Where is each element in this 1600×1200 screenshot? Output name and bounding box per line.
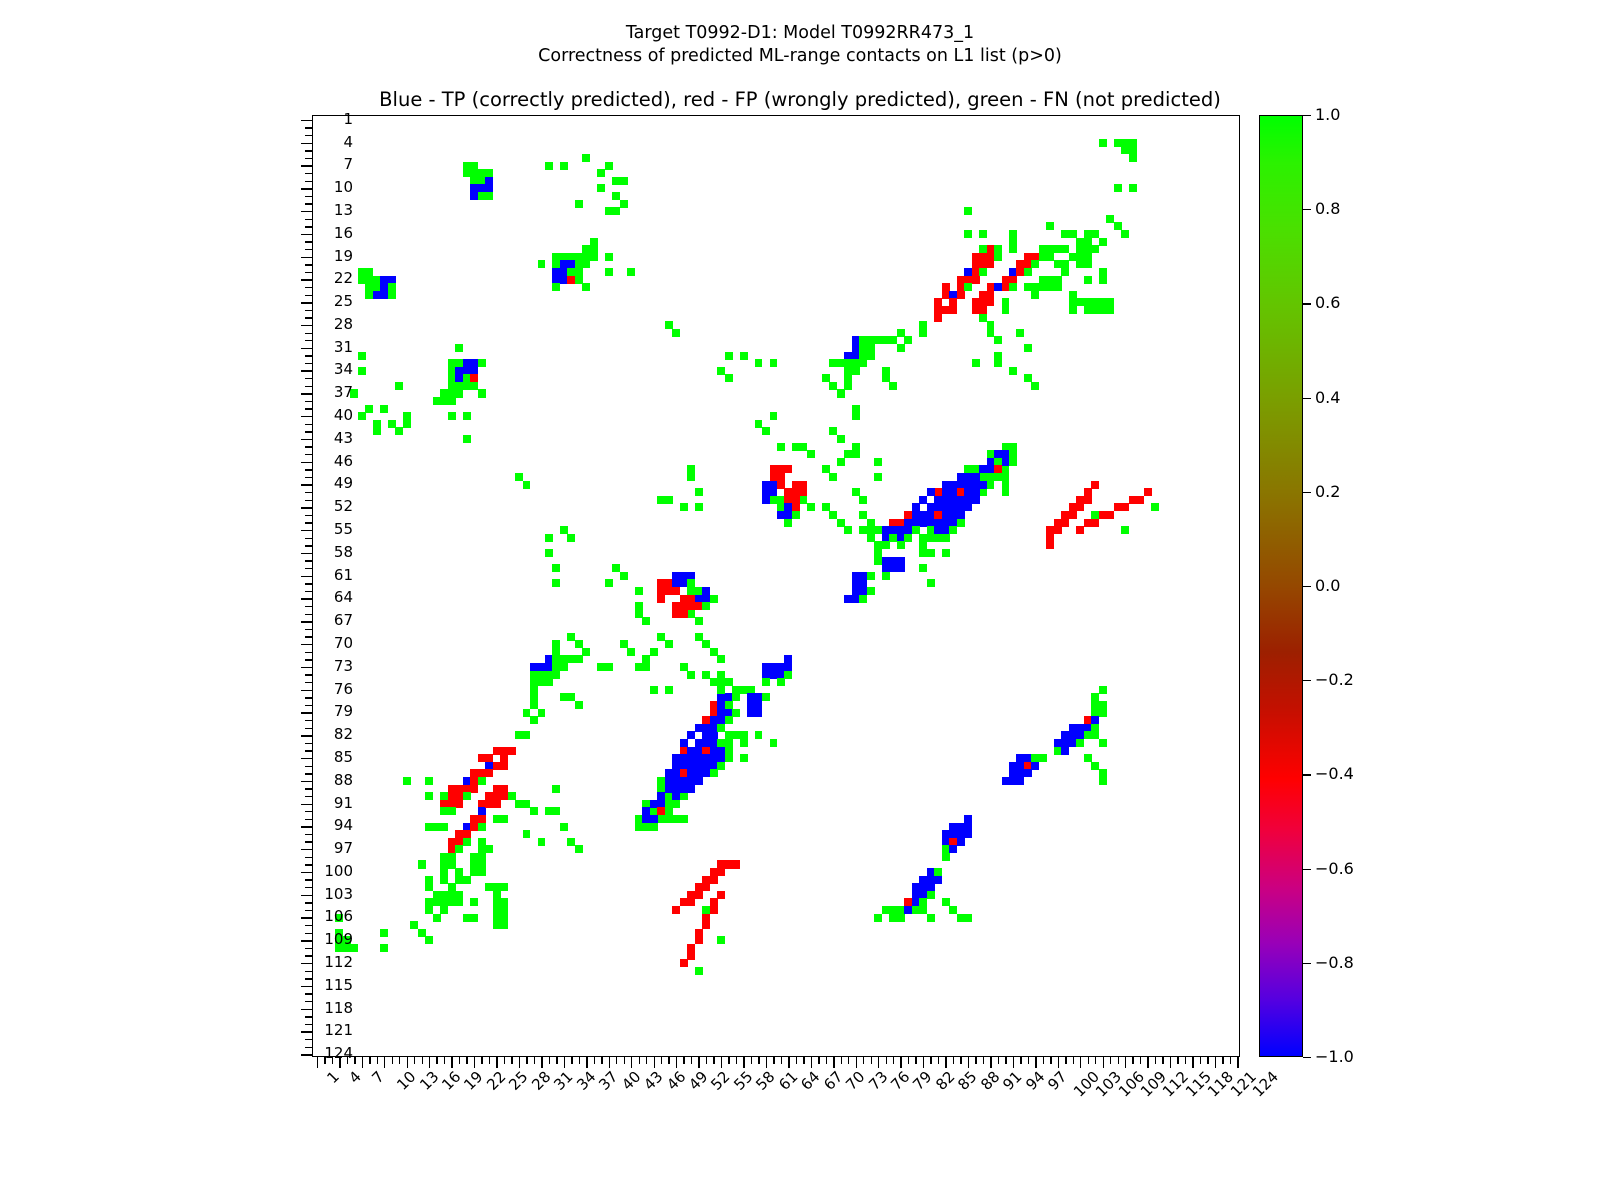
chart-legend-subtitle: Blue - TP (correctly predicted), red - F… <box>0 88 1600 111</box>
x-tick <box>661 1056 662 1064</box>
x-tick-major <box>1125 1056 1126 1068</box>
contact-cell <box>478 389 486 397</box>
y-tick <box>305 652 313 653</box>
contact-cell <box>380 929 388 937</box>
contact-cell <box>987 298 995 306</box>
contact-cell <box>927 914 935 922</box>
contact-cell <box>755 359 763 367</box>
contact-cell <box>1002 458 1010 466</box>
x-tick <box>534 1056 535 1064</box>
contact-cell <box>582 260 590 268</box>
contact-cell <box>493 906 501 914</box>
contact-cell <box>1061 519 1069 527</box>
x-tick <box>908 1056 909 1064</box>
y-tick-label: 109 <box>233 932 353 947</box>
y-tick-label: 1 <box>233 112 353 127</box>
contact-cell <box>620 200 628 208</box>
y-tick-label: 40 <box>233 408 353 423</box>
y-tick-label: 118 <box>233 1001 353 1016</box>
x-tick-major <box>451 1056 452 1068</box>
contact-cell <box>1016 329 1024 337</box>
contact-cell <box>867 352 875 360</box>
contact-cell <box>1091 481 1099 489</box>
x-tick-major <box>833 1056 834 1068</box>
contact-cell <box>710 876 718 884</box>
x-tick-major <box>743 1056 744 1068</box>
contact-cell <box>717 891 725 899</box>
contact-cell <box>949 526 957 534</box>
y-tick <box>305 446 313 447</box>
x-tick <box>1140 1056 1141 1064</box>
contact-cell <box>725 754 733 762</box>
contact-cell <box>1091 511 1099 519</box>
contact-cell <box>695 777 703 785</box>
contact-cell <box>1099 777 1107 785</box>
x-tick <box>436 1056 437 1064</box>
contact-cell <box>1076 526 1084 534</box>
contact-cell <box>605 268 613 276</box>
contact-cell <box>627 648 635 656</box>
colorbar-tick <box>1303 115 1311 116</box>
y-tick <box>305 355 313 356</box>
contact-cell <box>448 397 456 405</box>
contact-cell <box>1009 245 1017 253</box>
contact-cell <box>463 435 471 443</box>
contact-cell <box>964 207 972 215</box>
x-tick <box>639 1056 640 1064</box>
contact-cell <box>852 450 860 458</box>
x-tick <box>1200 1056 1201 1064</box>
contact-cell <box>642 823 650 831</box>
contact-cell <box>403 777 411 785</box>
contact-cell <box>582 154 590 162</box>
x-tick-major <box>631 1056 632 1068</box>
contact-cell <box>552 283 560 291</box>
contact-cell <box>620 572 628 580</box>
y-tick-label: 76 <box>233 682 353 697</box>
y-tick-label: 115 <box>233 978 353 993</box>
y-tick-label: 61 <box>233 568 353 583</box>
contact-cell <box>964 230 972 238</box>
contact-cell <box>1039 754 1047 762</box>
x-tick <box>399 1056 400 1064</box>
contact-cell <box>1046 222 1054 230</box>
x-tick-label: 97 <box>1046 1069 1070 1093</box>
contact-cell <box>403 412 411 420</box>
x-tick-major <box>1058 1056 1059 1068</box>
contact-cell <box>897 541 905 549</box>
x-tick <box>1020 1056 1021 1064</box>
contact-cell <box>1091 298 1099 306</box>
contact-cell <box>859 595 867 603</box>
contact-cell <box>1002 488 1010 496</box>
y-tick <box>305 674 313 675</box>
contact-cell <box>942 853 950 861</box>
contact-cell <box>717 762 725 770</box>
contact-map-cells <box>313 116 1239 1056</box>
contact-cell <box>680 792 688 800</box>
colorbar <box>1259 115 1303 1057</box>
contact-cell <box>867 587 875 595</box>
contact-cell <box>994 253 1002 261</box>
colorbar-tick-label: −0.8 <box>1315 955 1354 971</box>
y-tick-label: 7 <box>233 157 353 172</box>
contact-cell <box>433 914 441 922</box>
contact-cell <box>680 503 688 511</box>
contact-cell <box>949 306 957 314</box>
x-tick <box>773 1056 774 1064</box>
contact-cell <box>837 435 845 443</box>
contact-cell <box>957 291 965 299</box>
y-tick-label: 106 <box>233 909 353 924</box>
x-tick-major <box>766 1056 767 1068</box>
x-tick-major <box>586 1056 587 1068</box>
contact-cell <box>545 162 553 170</box>
contact-cell <box>1009 283 1017 291</box>
contact-cell <box>560 162 568 170</box>
x-tick <box>504 1056 505 1064</box>
contact-cell <box>695 617 703 625</box>
x-tick <box>459 1056 460 1064</box>
contact-cell <box>740 731 748 739</box>
contact-cell <box>478 823 486 831</box>
y-tick-label: 13 <box>233 203 353 218</box>
contact-cell <box>710 906 718 914</box>
x-tick-major <box>609 1056 610 1068</box>
contact-cell <box>964 503 972 511</box>
contact-cell <box>1069 511 1077 519</box>
contact-cell <box>927 891 935 899</box>
contact-cell <box>545 534 553 542</box>
contact-cell <box>755 731 763 739</box>
x-tick-major <box>384 1056 385 1068</box>
contact-cell <box>605 162 613 170</box>
x-tick-major <box>407 1056 408 1068</box>
contact-cell <box>1136 496 1144 504</box>
contact-cell <box>1054 283 1062 291</box>
contact-cell <box>979 268 987 276</box>
contact-cell <box>784 519 792 527</box>
x-tick-major <box>856 1056 857 1068</box>
contact-cell <box>597 169 605 177</box>
x-tick-major <box>1147 1056 1148 1068</box>
y-tick-label: 19 <box>233 249 353 264</box>
contact-cell <box>904 336 912 344</box>
contact-cell <box>1106 306 1114 314</box>
contact-cell <box>665 496 673 504</box>
contact-cell <box>1031 260 1039 268</box>
x-tick <box>886 1056 887 1064</box>
y-tick-label: 124 <box>233 1046 353 1061</box>
contact-cell <box>725 352 733 360</box>
colorbar-tick <box>1303 586 1311 587</box>
x-tick <box>579 1056 580 1064</box>
x-tick <box>556 1056 557 1064</box>
y-tick-label: 43 <box>233 431 353 446</box>
contact-cell <box>463 876 471 884</box>
contact-cell <box>979 488 987 496</box>
contact-cell <box>620 177 628 185</box>
contact-cell <box>1099 139 1107 147</box>
contact-cell <box>687 944 695 952</box>
contact-cell <box>740 739 748 747</box>
contact-cell <box>927 549 935 557</box>
contact-cell <box>582 648 590 656</box>
x-tick <box>938 1056 939 1064</box>
x-tick <box>444 1056 445 1064</box>
contact-cell <box>687 473 695 481</box>
y-tick <box>305 127 313 128</box>
contact-cell <box>755 709 763 717</box>
contact-cell <box>500 762 508 770</box>
contact-cell <box>380 944 388 952</box>
x-tick <box>594 1056 595 1064</box>
contact-cell <box>612 177 620 185</box>
x-tick <box>1065 1056 1066 1064</box>
x-tick <box>1185 1056 1186 1064</box>
contact-cell <box>1024 769 1032 777</box>
contact-cell <box>897 344 905 352</box>
contact-cell <box>784 671 792 679</box>
contact-cell <box>807 503 815 511</box>
y-tick-label: 97 <box>233 841 353 856</box>
contact-cell <box>650 823 658 831</box>
contact-cell <box>874 914 882 922</box>
contact-cell <box>358 412 366 420</box>
contact-cell <box>702 914 710 922</box>
y-tick <box>305 310 313 311</box>
contact-cell <box>612 207 620 215</box>
y-tick <box>305 857 313 858</box>
contact-cell <box>1016 777 1024 785</box>
x-tick-major <box>788 1056 789 1068</box>
x-tick <box>683 1056 684 1064</box>
contact-cell <box>552 579 560 587</box>
y-tick-label: 4 <box>233 135 353 150</box>
contact-cell <box>672 329 680 337</box>
contact-cell <box>665 640 673 648</box>
y-tick-label: 31 <box>233 340 353 355</box>
contact-cell <box>994 352 1002 360</box>
contact-cell <box>478 868 486 876</box>
contact-cell <box>1084 306 1092 314</box>
x-tick <box>624 1056 625 1064</box>
contact-cell <box>1009 458 1017 466</box>
y-tick <box>305 834 313 835</box>
contact-cell <box>792 511 800 519</box>
contact-cell <box>448 883 456 891</box>
x-tick-major <box>1170 1056 1171 1068</box>
contact-cell <box>919 549 927 557</box>
x-tick-major <box>945 1056 946 1068</box>
x-tick <box>893 1056 894 1064</box>
contact-cell <box>1114 503 1122 511</box>
x-tick <box>668 1056 669 1064</box>
x-tick-major <box>1237 1056 1238 1068</box>
contact-cell <box>799 488 807 496</box>
contact-cell <box>972 359 980 367</box>
contact-cell <box>725 374 733 382</box>
y-tick-label: 70 <box>233 636 353 651</box>
contact-cell <box>500 914 508 922</box>
contact-cell <box>448 412 456 420</box>
contact-cell <box>433 898 441 906</box>
y-tick <box>305 287 313 288</box>
y-tick-label: 88 <box>233 773 353 788</box>
contact-cell <box>1076 739 1084 747</box>
x-tick-label: 124 <box>1251 1069 1282 1100</box>
x-tick <box>369 1056 370 1064</box>
contact-cell <box>972 496 980 504</box>
x-tick-major <box>811 1056 812 1068</box>
y-tick-label: 67 <box>233 613 353 628</box>
contact-cell <box>358 367 366 375</box>
contact-cell <box>1121 503 1129 511</box>
contact-cell <box>1031 762 1039 770</box>
contact-cell <box>418 860 426 868</box>
x-tick-label: 7 <box>369 1069 386 1086</box>
contact-cell <box>463 792 471 800</box>
y-tick <box>305 264 313 265</box>
y-tick <box>305 492 313 493</box>
contact-cell <box>1009 450 1017 458</box>
contact-cell <box>575 268 583 276</box>
contact-cell <box>874 336 882 344</box>
contact-cell <box>1129 154 1137 162</box>
title-line-2: Correctness of predicted ML-range contac… <box>0 45 1600 68</box>
contact-cell <box>1031 382 1039 390</box>
contact-cell <box>388 291 396 299</box>
contact-cell <box>702 602 710 610</box>
y-tick <box>305 629 313 630</box>
x-tick-major <box>429 1056 430 1068</box>
contact-cell <box>732 693 740 701</box>
contact-cell <box>1099 238 1107 246</box>
contact-cell <box>425 777 433 785</box>
y-tick <box>305 788 313 789</box>
y-tick-label: 94 <box>233 818 353 833</box>
contact-cell <box>1069 253 1077 261</box>
x-tick <box>1207 1056 1208 1064</box>
contact-cell <box>710 678 718 686</box>
contact-cell <box>1076 503 1084 511</box>
colorbar-tick-label: −0.2 <box>1315 672 1354 688</box>
contact-cell <box>680 815 688 823</box>
contact-cell <box>1106 511 1114 519</box>
contact-cell <box>650 686 658 694</box>
y-tick-label: 37 <box>233 385 353 400</box>
x-tick <box>1155 1056 1156 1064</box>
x-tick-major <box>676 1056 677 1068</box>
colorbar-tick <box>1303 1057 1311 1058</box>
contact-cell <box>732 709 740 717</box>
contact-cell <box>740 352 748 360</box>
y-tick-label: 82 <box>233 727 353 742</box>
contact-cell <box>463 838 471 846</box>
y-tick <box>305 948 313 949</box>
contact-cell <box>500 921 508 929</box>
y-tick <box>305 424 313 425</box>
y-tick-label: 100 <box>233 864 353 879</box>
x-tick-major <box>1035 1056 1036 1068</box>
contact-cell <box>1091 245 1099 253</box>
contact-cell <box>523 731 531 739</box>
colorbar-tick <box>1303 680 1311 681</box>
x-tick <box>1028 1056 1029 1064</box>
contact-cell <box>1144 488 1152 496</box>
colorbar-tick <box>1303 774 1311 775</box>
contact-cell <box>590 253 598 261</box>
x-tick <box>871 1056 872 1064</box>
contact-cell <box>358 352 366 360</box>
contact-cell <box>1054 526 1062 534</box>
colorbar-tick <box>1303 209 1311 210</box>
colorbar-tick-label: −0.4 <box>1315 766 1354 782</box>
contact-cell <box>919 898 927 906</box>
x-tick <box>841 1056 842 1064</box>
contact-cell <box>919 564 927 572</box>
x-tick-major <box>496 1056 497 1068</box>
contact-cell <box>523 481 531 489</box>
x-tick-major <box>474 1056 475 1068</box>
contact-cell <box>770 412 778 420</box>
x-tick <box>526 1056 527 1064</box>
x-tick <box>706 1056 707 1064</box>
y-tick <box>305 469 313 470</box>
contact-cell <box>1129 146 1137 154</box>
y-tick <box>305 196 313 197</box>
contact-cell <box>395 427 403 435</box>
contact-cell <box>500 815 508 823</box>
x-tick <box>863 1056 864 1064</box>
contact-cell <box>717 655 725 663</box>
contact-cell <box>717 936 725 944</box>
x-tick <box>1132 1056 1133 1064</box>
contact-cell <box>1129 184 1137 192</box>
contact-cell <box>582 283 590 291</box>
contact-cell <box>1024 268 1032 276</box>
contact-cell <box>770 739 778 747</box>
contact-cell <box>530 807 538 815</box>
contact-cell <box>994 336 1002 344</box>
contact-cell <box>837 389 845 397</box>
y-tick-label: 55 <box>233 522 353 537</box>
y-tick-label: 64 <box>233 590 353 605</box>
x-tick <box>1050 1056 1051 1064</box>
x-tick <box>571 1056 572 1064</box>
contact-cell <box>687 785 695 793</box>
contact-cell <box>987 481 995 489</box>
y-tick <box>305 811 313 812</box>
y-tick <box>305 606 313 607</box>
contact-cell <box>650 815 658 823</box>
contact-cell <box>942 534 950 542</box>
contact-cell <box>575 655 583 663</box>
y-tick <box>305 173 313 174</box>
x-tick-major <box>564 1056 565 1068</box>
contact-cell <box>710 769 718 777</box>
x-tick <box>998 1056 999 1064</box>
contact-cell <box>829 473 837 481</box>
contact-cell <box>912 906 920 914</box>
contact-cell <box>762 693 770 701</box>
contact-cell <box>635 587 643 595</box>
contact-cell <box>470 914 478 922</box>
x-tick <box>818 1056 819 1064</box>
contact-cell <box>455 800 463 808</box>
contact-cell <box>455 344 463 352</box>
contact-cell <box>1114 184 1122 192</box>
